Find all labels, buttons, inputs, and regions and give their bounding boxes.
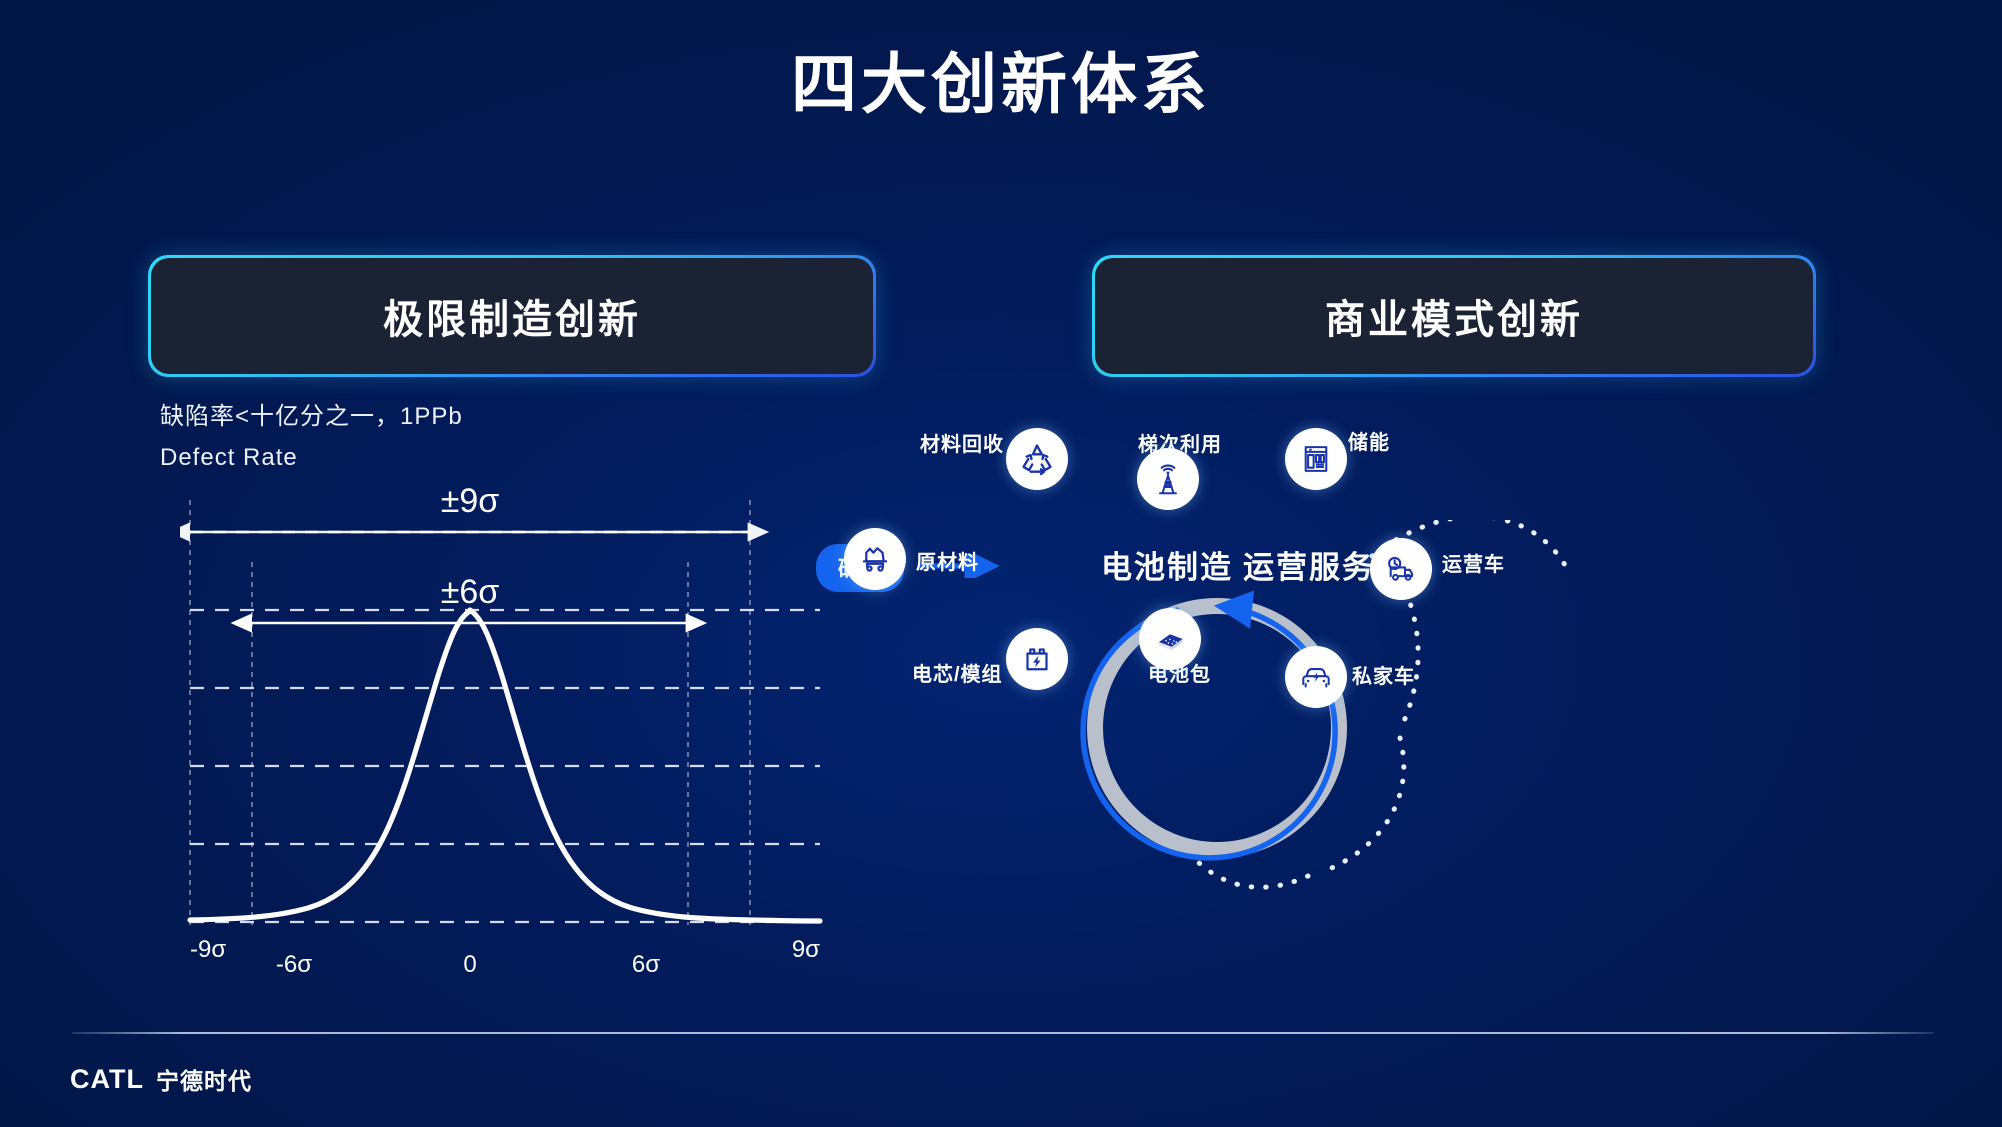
catl-logo: CATL 宁德时代	[70, 1062, 252, 1096]
card-left-inner: 极限制造创新	[151, 258, 873, 374]
logo-latin: CATL	[70, 1064, 144, 1095]
ore-cart-icon	[856, 540, 894, 578]
label-operation-vehicle: 运营车	[1442, 548, 1505, 577]
business-model-diagram: 矿产 原材料 材料回收 梯次利用 电池包 电芯/模组 储能 运营车 私家车 电池…	[930, 520, 1980, 940]
node-material-recycle[interactable]	[1006, 428, 1068, 490]
card-right-inner: 商业模式创新	[1095, 258, 1813, 374]
xtick-plus9sigma: 9σ	[792, 936, 820, 963]
card-extreme-manufacturing[interactable]: 极限制造创新	[148, 255, 876, 377]
node-cell-module[interactable]	[1006, 628, 1068, 690]
diagram-svg	[930, 520, 1980, 940]
energy-storage-icon	[1297, 440, 1335, 478]
xtick-plus6sigma: 6σ	[632, 951, 660, 978]
normal-distribution-chart: ±9σ ±6σ -9σ -6σ 0 6σ 9σ	[180, 470, 840, 1000]
label-battery-manufacturing: 电池制造	[1101, 542, 1233, 587]
card-right-title: 商业模式创新	[1325, 287, 1583, 345]
card-business-model[interactable]: 商业模式创新	[1092, 255, 1816, 377]
chart-vertical-gridlines	[190, 500, 750, 925]
service-route-bottom	[1192, 856, 1308, 887]
manufacturing-cycle-arc	[1083, 607, 1335, 858]
xtick-minus9sigma: -9σ	[190, 936, 226, 963]
node-energy-storage[interactable]	[1285, 428, 1347, 490]
node-battery-pack[interactable]	[1139, 608, 1201, 670]
node-raw-material[interactable]	[844, 528, 906, 590]
xtick-minus6sigma: -6σ	[276, 951, 312, 978]
footer-divider	[72, 1032, 1934, 1034]
service-route-right-upper	[1400, 578, 1418, 730]
page-title: 四大创新体系	[0, 48, 2002, 121]
logo-cn: 宁德时代	[156, 1062, 252, 1096]
node-operation-vehicle[interactable]	[1370, 538, 1432, 600]
card-left-title: 极限制造创新	[383, 287, 641, 345]
defect-rate-cn: 缺陷率<十亿分之一，1PPb	[160, 396, 463, 431]
label-operation-service: 运营服务	[1243, 542, 1375, 587]
xtick-zero: 0	[463, 951, 476, 978]
defect-rate-en: Defect Rate	[160, 444, 298, 472]
label-raw-material: 原材料	[916, 546, 979, 575]
label-material-recycle: 材料回收	[920, 428, 1004, 457]
chart-svg: ±9σ ±6σ -9σ -6σ 0 6σ 9σ	[180, 470, 840, 1000]
label-6sigma: ±6σ	[441, 573, 500, 611]
chart-horizontal-gridlines	[190, 610, 820, 922]
battery-cell-icon	[1018, 640, 1056, 678]
recycle-icon	[1018, 440, 1056, 478]
private-car-icon	[1297, 658, 1335, 696]
delivery-truck-icon	[1382, 550, 1420, 588]
slide-root: 四大创新体系 极限制造创新 缺陷率<十亿分之一，1PPb Defect Rate	[0, 0, 2002, 1127]
label-energy-storage: 储能	[1348, 426, 1390, 455]
tower-icon	[1149, 460, 1187, 498]
node-cascade-utilization[interactable]	[1137, 448, 1199, 510]
label-cell-module: 电芯/模组	[912, 658, 1003, 687]
battery-pack-icon	[1151, 620, 1189, 658]
label-9sigma: ±9σ	[441, 482, 500, 520]
node-private-car[interactable]	[1285, 646, 1347, 708]
label-private-car: 私家车	[1352, 660, 1415, 689]
